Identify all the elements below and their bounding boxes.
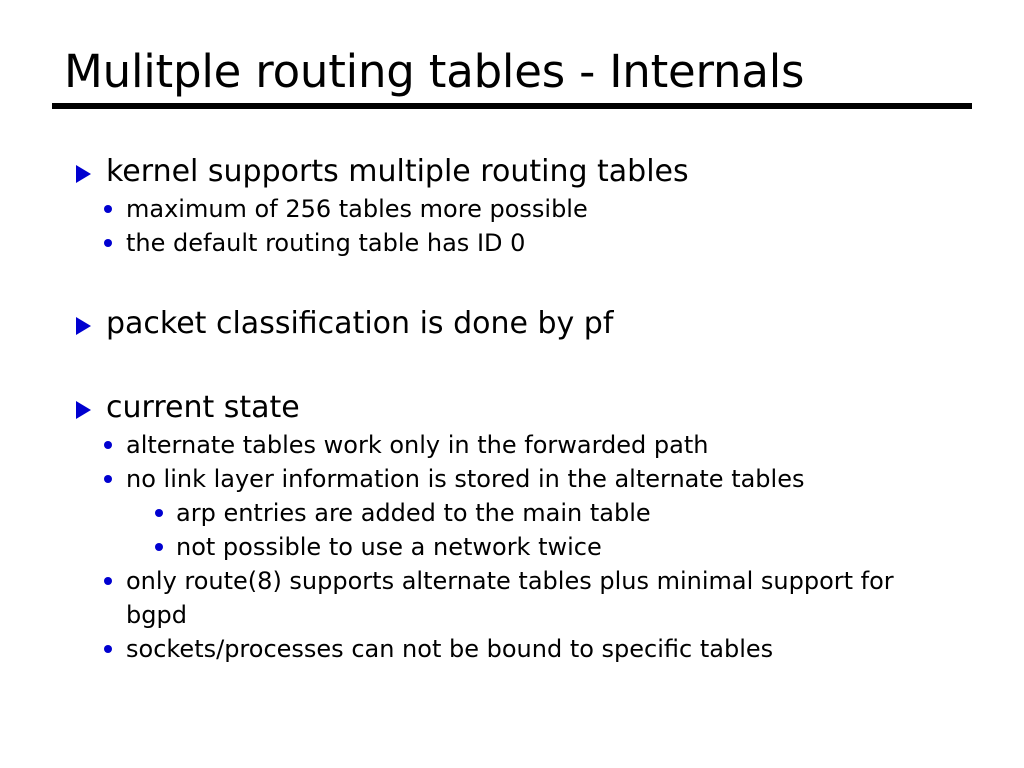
bullet-text: packet classification is done by pf — [106, 304, 964, 344]
slide: Mulitple routing tables - Internals kern… — [0, 0, 1024, 768]
bullet-text: only route(8) supports alternate tables … — [126, 564, 934, 632]
bullet-level2: sockets/processes can not be bound to sp… — [0, 632, 1024, 666]
bullet-level1: packet classification is done by pf — [0, 304, 1024, 344]
bullet-level2: the default routing table has ID 0 — [0, 226, 1024, 260]
dot-bullet-icon — [155, 509, 163, 517]
bullet-text: maximum of 256 tables more possible — [126, 192, 934, 226]
dot-bullet-icon — [104, 441, 112, 449]
dot-bullet-icon — [104, 239, 112, 247]
bullet-text: no link layer information is stored in t… — [126, 462, 934, 496]
title-block: Mulitple routing tables - Internals — [52, 48, 972, 109]
title-underline-rule — [52, 103, 972, 109]
bullet-level3: arp entries are added to the main table — [0, 496, 1024, 530]
bullet-level2: alternate tables work only in the forwar… — [0, 428, 1024, 462]
bullet-text: not possible to use a network twice — [176, 530, 934, 564]
dot-bullet-icon — [104, 205, 112, 213]
bullet-text: arp entries are added to the main table — [176, 496, 934, 530]
group-spacer — [0, 344, 1024, 388]
bullet-level2: maximum of 256 tables more possible — [0, 192, 1024, 226]
bullet-text: alternate tables work only in the forwar… — [126, 428, 934, 462]
triangle-bullet-icon — [76, 401, 91, 419]
dot-bullet-icon — [104, 577, 112, 585]
bullet-level1: current state — [0, 388, 1024, 428]
bullet-text: current state — [106, 388, 964, 428]
bullet-text: the default routing table has ID 0 — [126, 226, 934, 260]
bullet-level1: kernel supports multiple routing tables — [0, 152, 1024, 192]
bullet-text: sockets/processes can not be bound to sp… — [126, 632, 934, 666]
triangle-bullet-icon — [76, 317, 91, 335]
dot-bullet-icon — [155, 543, 163, 551]
dot-bullet-icon — [104, 645, 112, 653]
page-title: Mulitple routing tables - Internals — [64, 48, 972, 96]
bullet-level3: not possible to use a network twice — [0, 530, 1024, 564]
bullet-text: kernel supports multiple routing tables — [106, 152, 964, 192]
dot-bullet-icon — [104, 475, 112, 483]
group-spacer — [0, 260, 1024, 304]
bullet-level2: only route(8) supports alternate tables … — [0, 564, 1024, 632]
bullet-list: kernel supports multiple routing tables … — [0, 152, 1024, 666]
bullet-level2: no link layer information is stored in t… — [0, 462, 1024, 496]
triangle-bullet-icon — [76, 165, 91, 183]
